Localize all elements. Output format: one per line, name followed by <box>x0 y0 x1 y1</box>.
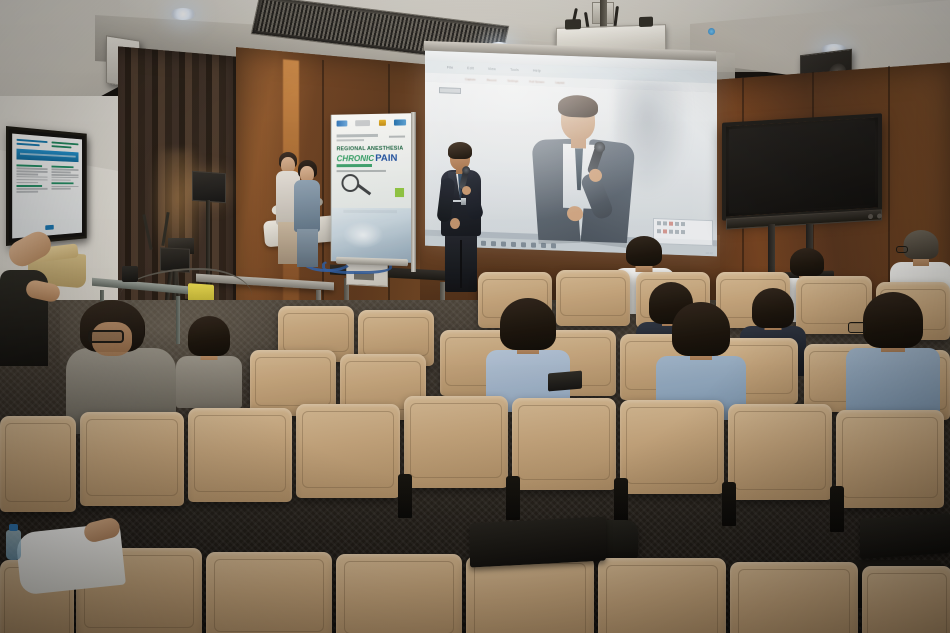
sponsor-logo-icon <box>394 119 406 125</box>
seat-armrest <box>614 478 628 522</box>
auditorium-seat <box>512 398 616 490</box>
poster-header-left <box>17 139 48 147</box>
poster-text-line <box>51 177 78 179</box>
display-stand-column <box>768 224 775 276</box>
poster-logo-icon <box>45 224 54 229</box>
flat-panel-screen-off <box>729 121 875 214</box>
auditorium-seat <box>296 404 400 498</box>
stethoscope-tube-icon <box>357 184 371 195</box>
auditorium-seat <box>188 408 292 502</box>
sponsor-logo-icon <box>356 120 371 126</box>
presenter-hand <box>462 186 471 195</box>
banner-photo-area <box>332 208 411 263</box>
banner-word-chronic: CHRONIC <box>337 155 375 163</box>
assistant-torso <box>294 180 320 232</box>
auditorium-seat <box>598 558 726 633</box>
eyeglasses-icon <box>896 246 908 253</box>
attendee-hair <box>188 316 230 356</box>
banner-subtext-line <box>337 134 378 138</box>
sponsor-logo-icon <box>337 120 348 126</box>
water-bottle-icon <box>6 530 21 560</box>
poster-header-line <box>51 145 72 148</box>
auditorium-seat <box>466 556 594 633</box>
poster-text-line <box>17 176 48 178</box>
presenter-leg-separation <box>460 240 462 288</box>
attendee-hair <box>752 288 794 328</box>
audience-member <box>846 292 940 404</box>
poster-text-line <box>51 171 70 173</box>
auditorium-seat <box>80 412 184 506</box>
poster-text-line <box>51 169 78 171</box>
poster-text-line <box>17 179 48 181</box>
standing-assistant <box>292 160 322 264</box>
audience-member-foreground <box>66 300 176 430</box>
auditorium-seat <box>730 562 858 633</box>
poster-sheet <box>12 134 82 239</box>
poster-text-line <box>17 173 39 175</box>
poster-columns <box>17 164 79 223</box>
auditorium-seat <box>728 404 832 500</box>
poster-text-line <box>17 182 39 183</box>
poster-text-line <box>17 168 48 170</box>
poster-text-line <box>51 180 70 181</box>
laptop-device <box>548 371 582 392</box>
seat-armrest <box>398 474 412 518</box>
auditorium-seat <box>862 566 950 633</box>
recessed-downlight-icon <box>170 8 196 20</box>
poster-text-line <box>51 188 70 189</box>
attendee-standing-left <box>0 236 62 364</box>
audience-member <box>656 302 746 410</box>
poster-text-line <box>51 186 78 187</box>
stethoscope-icon <box>341 174 359 192</box>
banner-title-line2: CHRONIC PAIN <box>337 153 406 163</box>
banner-green-block <box>395 188 404 197</box>
poster-blue-banner <box>17 149 79 162</box>
attendee-hair <box>863 292 923 348</box>
rollup-banner: REGIONAL ANESTHESIA CHRONIC PAIN <box>331 113 412 263</box>
banner-corner-note <box>389 136 405 139</box>
poster-text-line <box>17 171 48 173</box>
ceiling-indicator-light-icon <box>708 28 715 35</box>
auditorium-seat <box>0 416 76 512</box>
poster-column <box>17 164 48 223</box>
attendee-hair <box>904 230 939 259</box>
poster-subheading <box>17 164 42 167</box>
auditorium-seat <box>404 396 508 488</box>
auditorium-seat <box>836 410 944 508</box>
conference-hall-photo: File Edit View Tools Help Capture Record… <box>0 0 950 633</box>
banner-subtext-line <box>337 139 364 142</box>
poster-headers <box>17 139 79 149</box>
presenter-hair <box>448 142 472 159</box>
flat-panel-display <box>722 113 882 221</box>
seat-armrest <box>830 486 844 532</box>
attendee-hair <box>626 236 662 266</box>
poster-text-line <box>17 191 39 192</box>
eyeglasses-icon <box>88 330 124 343</box>
presenter-figure <box>432 142 488 290</box>
poster-text-line <box>17 188 48 189</box>
attendee-shirt <box>176 356 242 408</box>
seat-armrest <box>722 482 736 526</box>
poster-subheading <box>51 182 74 184</box>
banner-word-pain: PAIN <box>375 154 397 164</box>
poster-header-right <box>51 141 78 148</box>
assistant-legs <box>297 229 318 267</box>
audience-member <box>176 316 242 400</box>
sponsor-logo-icon <box>379 119 386 125</box>
banner-support-pole <box>411 112 416 272</box>
attendee-hair <box>790 248 824 276</box>
banner-sponsor-logos <box>337 117 406 127</box>
attendee-hair <box>500 298 556 350</box>
poster-subheading <box>17 185 42 187</box>
banner-subtext-line <box>337 170 387 172</box>
auditorium-seat <box>336 554 462 633</box>
framed-poster <box>6 126 87 246</box>
poster-text-line <box>51 174 78 176</box>
desk-object <box>122 266 138 282</box>
seat-tablet-arm-desk <box>860 513 950 559</box>
auditorium-seat <box>206 552 332 633</box>
poster-header-line <box>17 142 40 146</box>
attendee-hair <box>672 302 730 356</box>
seat-tablet-arm-desk <box>470 516 606 567</box>
seat-armrest <box>506 476 520 520</box>
name-badge-icon <box>461 198 466 205</box>
auditorium-seat <box>620 400 724 494</box>
poster-subheading <box>51 165 74 168</box>
poster-column <box>51 165 78 221</box>
studio-light-panel-icon <box>192 171 226 203</box>
presenter-hand <box>450 218 460 229</box>
eyeglasses-icon <box>848 322 866 333</box>
poster-footer <box>17 221 79 233</box>
banner-accent-line <box>337 164 373 167</box>
attendee-shirt <box>846 348 940 414</box>
